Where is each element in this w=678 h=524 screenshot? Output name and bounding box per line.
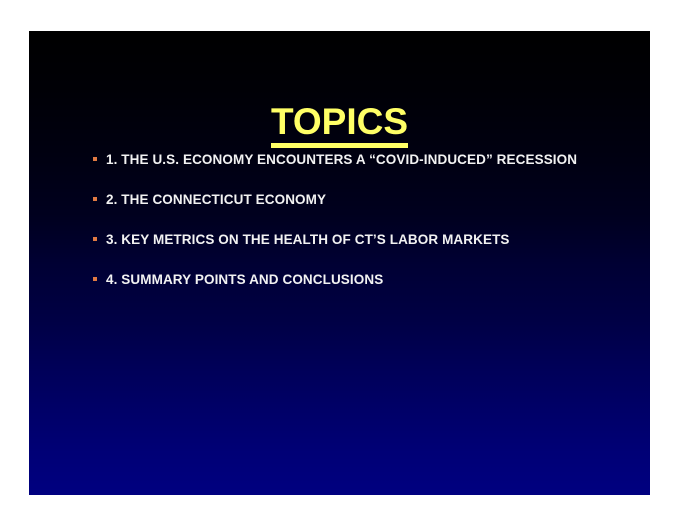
bullet-icon [93,237,97,241]
list-item: 4. SUMMARY POINTS AND CONCLUSIONS [93,270,623,290]
bullet-icon [93,157,97,161]
topic-label-3: 3. KEY METRICS ON THE HEALTH OF CT’S LAB… [106,230,623,250]
list-item: 1. THE U.S. ECONOMY ENCOUNTERS A “COVID-… [93,150,623,170]
bullet-icon [93,277,97,281]
topic-label-2: 2. THE CONNECTICUT ECONOMY [106,190,623,210]
page-title: TOPICS [29,103,650,148]
topic-label-1: 1. THE U.S. ECONOMY ENCOUNTERS A “COVID-… [106,150,623,170]
bullet-icon [93,197,97,201]
presentation-slide: TOPICS 1. THE U.S. ECONOMY ENCOUNTERS A … [29,31,650,495]
slide-canvas: TOPICS 1. THE U.S. ECONOMY ENCOUNTERS A … [0,0,678,524]
topic-label-4: 4. SUMMARY POINTS AND CONCLUSIONS [106,270,623,290]
topics-list: 1. THE U.S. ECONOMY ENCOUNTERS A “COVID-… [93,150,623,290]
list-item: 2. THE CONNECTICUT ECONOMY [93,190,623,210]
list-item: 3. KEY METRICS ON THE HEALTH OF CT’S LAB… [93,230,623,250]
page-title-text: TOPICS [271,103,408,148]
